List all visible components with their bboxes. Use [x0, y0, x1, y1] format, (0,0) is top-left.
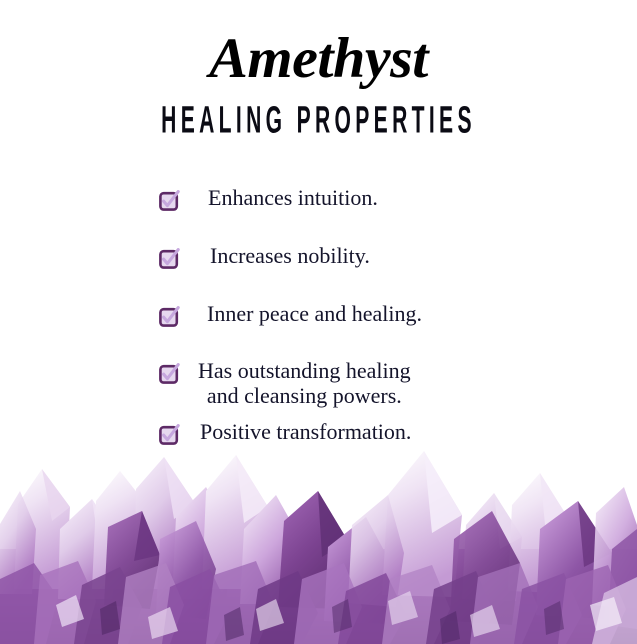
checked-checkbox-icon [159, 248, 180, 269]
amethyst-healing-properties-poster: Amethyst HEALING PROPERTIES Enhances int… [0, 0, 637, 644]
list-item: Has outstanding healing and cleansing po… [159, 359, 579, 408]
page-subtitle: HEALING PROPERTIES [121, 101, 516, 139]
checked-checkbox-icon [159, 306, 180, 327]
page-title: Amethyst [0, 30, 637, 87]
list-item-label: Enhances intuition. [208, 186, 378, 211]
healing-properties-list: Enhances intuition. Increases nobility. … [159, 186, 579, 445]
checked-checkbox-icon [159, 190, 180, 211]
checked-checkbox-icon [159, 363, 180, 384]
list-item: Increases nobility. [159, 244, 579, 269]
amethyst-crystal-illustration [0, 429, 637, 644]
list-item-label: Increases nobility. [210, 244, 370, 269]
list-item-label: Inner peace and healing. [207, 302, 422, 327]
list-item-label: Has outstanding healing and cleansing po… [198, 359, 411, 408]
amethyst-crystal-image [0, 429, 637, 644]
list-item: Enhances intuition. [159, 186, 579, 211]
poster-header: Amethyst HEALING PROPERTIES [0, 30, 637, 135]
list-item: Inner peace and healing. [159, 302, 579, 327]
